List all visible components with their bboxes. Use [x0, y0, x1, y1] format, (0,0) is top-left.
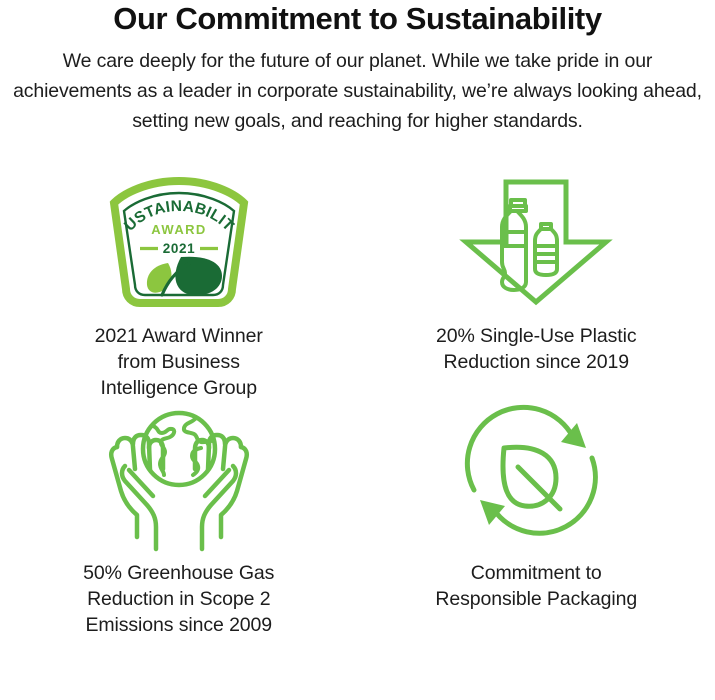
- caption-line: Intelligence Group: [95, 375, 263, 401]
- sustainability-infographic: Our Commitment to Sustainability We care…: [0, 0, 715, 700]
- award-icon-wrap: SUSTAINABILITY AWARD 2021: [104, 172, 254, 312]
- caption-line: Reduction since 2019: [436, 349, 636, 375]
- sustainability-award-badge-icon: SUSTAINABILITY AWARD 2021: [104, 177, 254, 307]
- caption-line: Responsible Packaging: [435, 586, 637, 612]
- greenhouse-caption: 50% Greenhouse Gas Reduction in Scope 2 …: [83, 560, 274, 638]
- caption-line: Reduction in Scope 2: [83, 586, 274, 612]
- plastic-bottle-down-arrow-icon: [456, 176, 616, 308]
- highlight-item-award: SUSTAINABILITY AWARD 2021 2021 Award Win…: [0, 172, 358, 401]
- highlight-item-greenhouse: 50% Greenhouse Gas Reduction in Scope 2 …: [0, 401, 358, 638]
- globe-icon-wrap: [95, 401, 263, 546]
- caption-line: 50% Greenhouse Gas: [83, 560, 274, 586]
- caption-line: Commitment to: [435, 560, 637, 586]
- highlight-item-plastic: 20% Single-Use Plastic Reduction since 2…: [358, 172, 715, 401]
- left-hand: [111, 435, 163, 549]
- badge-award-text: AWARD: [151, 222, 206, 237]
- plastic-caption: 20% Single-Use Plastic Reduction since 2…: [436, 323, 636, 375]
- highlight-item-packaging: Commitment to Responsible Packaging: [358, 401, 715, 638]
- recycle-leaf-icon: [456, 404, 616, 544]
- award-caption: 2021 Award Winner from Business Intellig…: [95, 323, 263, 401]
- right-hand: [195, 435, 247, 549]
- badge-leaf-small: [147, 263, 172, 293]
- hands-holding-globe-icon: [95, 404, 263, 544]
- small-bottle-icon: [535, 224, 557, 275]
- globe-circle: [143, 413, 215, 485]
- intro-paragraph: We care deeply for the future of our pla…: [4, 46, 711, 136]
- caption-line: from Business: [95, 349, 263, 375]
- caption-line: Emissions since 2009: [83, 612, 274, 638]
- page-title: Our Commitment to Sustainability: [4, 0, 711, 37]
- caption-line: 20% Single-Use Plastic: [436, 323, 636, 349]
- recycle-icon-wrap: [456, 401, 616, 546]
- highlights-grid: SUSTAINABILITY AWARD 2021 2021 Award Win…: [0, 172, 715, 638]
- packaging-caption: Commitment to Responsible Packaging: [435, 560, 637, 612]
- badge-year-text: 2021: [163, 241, 195, 256]
- badge-leaf-large: [175, 257, 222, 296]
- plastic-icon-wrap: [456, 172, 616, 312]
- caption-line: 2021 Award Winner: [95, 323, 263, 349]
- header: Our Commitment to Sustainability We care…: [0, 0, 715, 136]
